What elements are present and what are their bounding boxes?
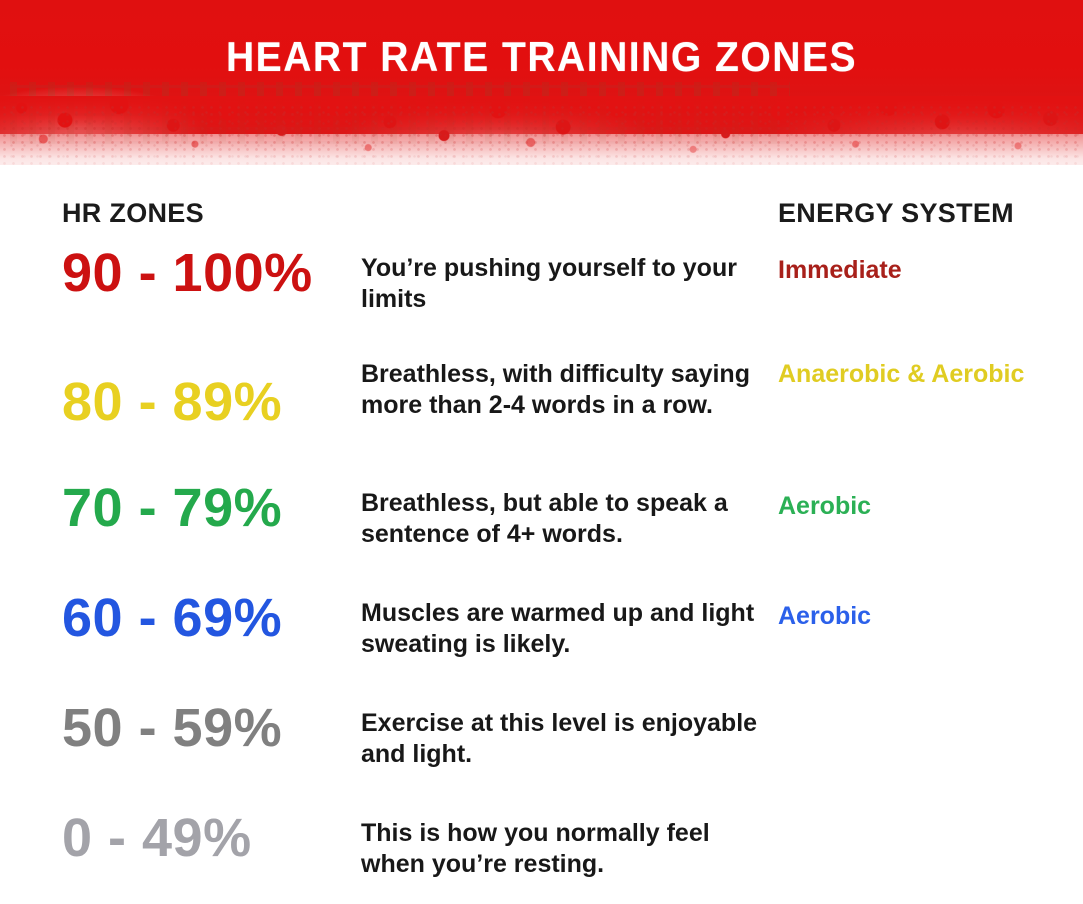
- zone-row: 60 - 69% Muscles are warmed up and light…: [0, 579, 1083, 689]
- header-banner: HEART RATE TRAINING ZONES: [0, 0, 1083, 165]
- zone-description: This is how you normally feel when you’r…: [361, 818, 761, 879]
- zone-row: 50 - 59% Exercise at this level is enjoy…: [0, 689, 1083, 799]
- zone-row: 80 - 89% Breathless, with difficulty say…: [0, 347, 1083, 469]
- column-headers: HR ZONES ENERGY SYSTEM: [0, 198, 1083, 232]
- zone-range-value: 0 - 49%: [62, 811, 362, 865]
- zone-description: Exercise at this level is enjoyable and …: [361, 708, 761, 769]
- page-title: HEART RATE TRAINING ZONES: [38, 33, 1045, 81]
- zone-range-value: 50 - 59%: [62, 701, 362, 755]
- zones-table: HR ZONES ENERGY SYSTEM 90 - 100% You’re …: [0, 165, 1083, 900]
- column-header-hr-zones: HR ZONES: [62, 198, 204, 229]
- zone-range-value: 80 - 89%: [62, 375, 362, 429]
- zone-description: Breathless, with difficulty saying more …: [361, 359, 761, 420]
- zone-range-value: 70 - 79%: [62, 481, 362, 535]
- zone-rows: 90 - 100% You’re pushing yourself to you…: [0, 237, 1083, 904]
- zone-range-value: 60 - 69%: [62, 591, 362, 645]
- zone-energy-system: Anaerobic & Aerobic: [778, 358, 1068, 390]
- zone-row: 0 - 49% This is how you normally feel wh…: [0, 799, 1083, 904]
- zone-range-value: 90 - 100%: [62, 246, 362, 300]
- zone-energy-system: Immediate: [778, 254, 1068, 286]
- zone-description: Muscles are warmed up and light sweating…: [361, 598, 761, 659]
- banner-speckle-texture: [0, 104, 1083, 165]
- zone-row: 70 - 79% Breathless, but able to speak a…: [0, 469, 1083, 579]
- zone-description: Breathless, but able to speak a sentence…: [361, 488, 761, 549]
- zone-row: 90 - 100% You’re pushing yourself to you…: [0, 237, 1083, 347]
- zone-energy-system: Aerobic: [778, 490, 1068, 522]
- zone-energy-system: Aerobic: [778, 600, 1068, 632]
- zone-description: You’re pushing yourself to your limits: [361, 253, 761, 314]
- column-header-energy-system: ENERGY SYSTEM: [778, 198, 1014, 229]
